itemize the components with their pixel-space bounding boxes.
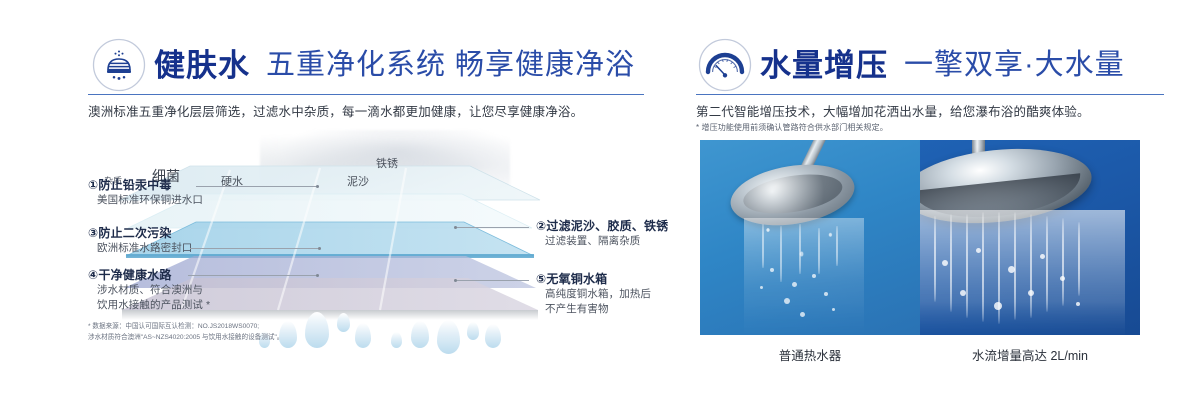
annotation-2-num: ②	[536, 219, 546, 233]
left-header-title: 健肤水	[154, 50, 250, 81]
annotation-3-num: ③	[88, 226, 98, 240]
left-lede-text: 澳洲标准五重净化层层筛选，过滤水中杂质，每一滴水都更加健康，让您尽享健康净浴。	[88, 101, 583, 120]
leader-line-4	[188, 275, 318, 276]
photo-caption-standard: 普通热水器	[700, 345, 920, 364]
annotation-2-title: 过滤泥沙、胶质、铁锈	[546, 219, 668, 233]
annotation-4-num: ④	[88, 268, 98, 282]
annotation-1-lead-mercury: ①防止铅汞中毒 美国标准环保铜进水口	[88, 178, 203, 208]
filter-layers-icon	[92, 38, 146, 92]
left-header: 健肤水 五重净化系统 畅享健康净浴	[92, 38, 635, 92]
annotation-1-desc: 美国标准环保铜进水口	[97, 193, 203, 208]
left-footnote-line2: 涉水材质符合澳洲"AS~NZS4020:2005 与饮用水接触的设备测试"。	[88, 333, 283, 344]
right-header-title: 水量增压	[760, 50, 888, 81]
annotation-5-desc-line2: 不产生有害物	[545, 302, 651, 317]
infographic-canvas: 健肤水 五重净化系统 畅享健康净浴 澳洲标准五重净化层层筛选，过滤水中杂质，每一…	[0, 0, 1200, 400]
annotation-3-title: 防止二次污染	[98, 226, 171, 240]
left-footnote: * 数据来源：中国认可国际互认检测：NO.JS2018WS0070; 涉水材质符…	[88, 322, 283, 344]
annotation-5-title: 无氧铜水箱	[546, 272, 607, 286]
left-header-divider	[88, 94, 644, 95]
water-droplets-decoration	[255, 300, 485, 348]
pressure-gauge-icon	[698, 38, 752, 92]
leader-line-3	[190, 248, 320, 249]
leader-line-5	[455, 280, 529, 281]
annotation-5-desc-line1: 高纯度铜水箱，加热后	[545, 287, 651, 302]
left-panel-purification: 健肤水 五重净化系统 畅享健康净浴 澳洲标准五重净化层层筛选，过滤水中杂质，每一…	[0, 0, 660, 400]
annotation-3-secondary-pollution: ③防止二次污染 欧洲标准水路密封口	[88, 226, 192, 256]
photo-caption-boosted: 水流增量高达 2L/min	[920, 345, 1140, 364]
right-header: 水量增压 一擎双享·大水量	[698, 38, 1125, 92]
standard-water-heater-photo	[700, 140, 920, 335]
diagram-label-rust: 铁锈	[376, 155, 398, 171]
comparison-photo-row	[700, 140, 1140, 335]
annotation-4-desc-line1: 涉水材质、符合澳洲与	[97, 283, 210, 298]
leader-line-2	[455, 227, 529, 228]
annotation-4-desc-line2: 饮用水接触的产品测试 *	[97, 298, 210, 313]
annotation-1-num: ①	[88, 178, 98, 192]
right-lede-text: 第二代智能增压技术，大幅增加花洒出水量，给您瀑布浴的酷爽体验。	[696, 101, 1090, 120]
right-subnote: * 增压功能使用前须确认管路符合供水部门相关规定。	[696, 122, 888, 133]
left-footnote-line1: * 数据来源：中国认可国际互认检测：NO.JS2018WS0070;	[88, 322, 283, 333]
annotation-5-oxygen-free-copper-tank: ⑤无氧铜水箱 高纯度铜水箱，加热后 不产生有害物	[536, 272, 651, 317]
annotation-4-title: 干净健康水路	[98, 268, 171, 282]
left-header-subtitle: 五重净化系统 畅享健康净浴	[266, 51, 635, 80]
right-header-subtitle: 一擎双享·大水量	[904, 51, 1125, 80]
diagram-label-sediment: 泥沙	[347, 173, 369, 189]
right-header-divider	[696, 94, 1164, 95]
annotation-1-title: 防止铅汞中毒	[98, 178, 171, 192]
annotation-3-desc: 欧洲标准水路密封口	[97, 241, 192, 256]
boosted-flow-photo	[920, 140, 1140, 335]
annotation-2-filter-sediment: ②过滤泥沙、胶质、铁锈 过滤装置、隔离杂质	[536, 219, 668, 249]
annotation-5-num: ⑤	[536, 272, 546, 286]
right-panel-pressure-boost: 水量增压 一擎双享·大水量 第二代智能增压技术，大幅增加花洒出水量，给您瀑布浴的…	[660, 0, 1200, 400]
leader-line-1	[196, 186, 318, 187]
annotation-2-desc: 过滤装置、隔离杂质	[545, 234, 668, 249]
